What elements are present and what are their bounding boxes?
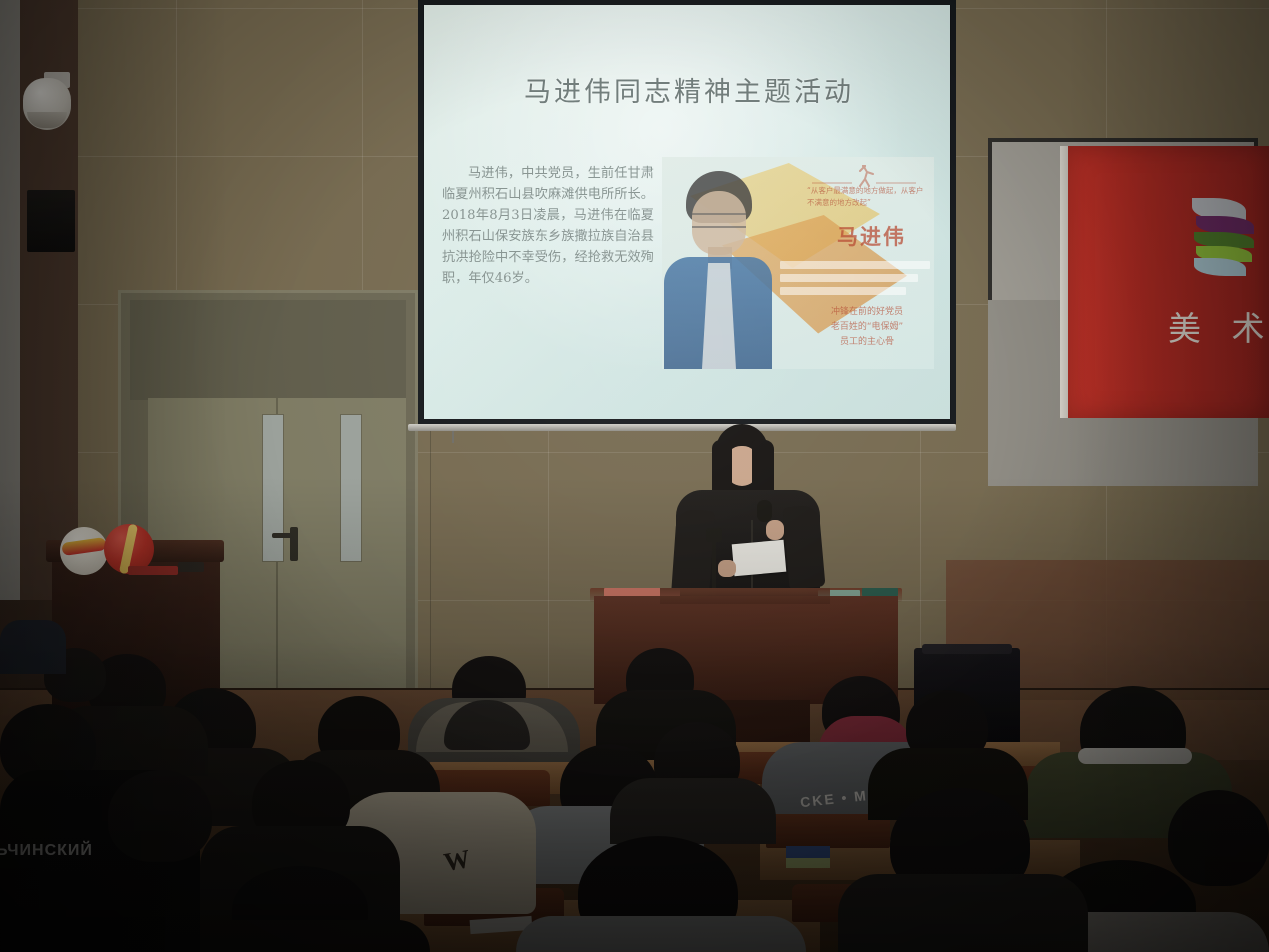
cyrillic-jacket-text: ЬЧИНСКИЙ [0, 842, 93, 860]
door-handle-lever[interactable] [272, 533, 294, 538]
slide-body-text: 马进伟，中共党员，生前任甘肃临夏州积石山县吹麻滩供电所所长。2018年8月3日凌… [442, 163, 654, 289]
door-glass-right [340, 414, 362, 562]
figure-runner-silhouette [812, 165, 916, 187]
wall-speaker-icon [27, 190, 75, 252]
leaf-fan-logo-icon [1192, 196, 1269, 278]
audience-front-3-shoulders [170, 920, 430, 952]
speech-paper [732, 540, 787, 576]
banner-text: 美 术 [1168, 302, 1269, 350]
audience-front-1-shoulders [516, 916, 806, 952]
portrait-glasses [692, 213, 746, 228]
figure-subtitle-line-3: 员工的主心骨 [808, 335, 926, 350]
audience-shoulders-k [610, 778, 776, 844]
door-alcove-header [130, 300, 406, 400]
audience-fur-collar-white [1078, 748, 1192, 764]
red-banner [1068, 146, 1269, 418]
floor-speaker-top [922, 644, 1012, 654]
podium-folder-dark-green [862, 588, 898, 596]
side-podium-item-dark [178, 562, 204, 572]
presenter-hand-left [718, 560, 736, 577]
slide-figure: “从客户最满意的地方做起，从客户不满意的地方改起” 马进伟 冲锋在前的好党员 老… [662, 157, 934, 369]
podium-front-panel [660, 588, 830, 604]
microphone-icon [757, 500, 772, 522]
figure-subtitle-line-1: 冲锋在前的好党员 [808, 305, 926, 320]
audience-front-2-shoulders [838, 874, 1088, 952]
desk-booklet-blue [786, 846, 830, 858]
figure-portrait [664, 171, 772, 367]
beige-jacket-letter: W [442, 844, 473, 878]
mic-stand-pole [712, 534, 716, 596]
desk-booklet-green [786, 858, 830, 868]
dome-camera-icon [23, 78, 71, 130]
screen-weight-bar [408, 424, 956, 431]
figure-subtitle: 冲锋在前的好党员 老百姓的“电保姆” 员工的主心骨 [808, 305, 926, 350]
presenter-arm-left [671, 509, 715, 597]
audience-blue-cap [0, 620, 66, 674]
wall-column-grey [0, 0, 20, 700]
slide-title: 马进伟同志精神主题活动 [479, 70, 899, 109]
lecture-hall-photo: 马进伟同志精神主题活动 马进伟，中共党员，生前任甘肃临夏州积石山县吹麻滩供电所所… [0, 0, 1269, 952]
projection-screen: 马进伟同志精神主题活动 马进伟，中共党员，生前任甘肃临夏州积石山县吹麻滩供电所所… [424, 5, 950, 419]
figure-subtitle-line-2: 老百姓的“电保姆” [808, 320, 926, 335]
figure-name: 马进伟 [837, 221, 906, 251]
audience-head-h [1168, 790, 1269, 886]
figure-white-bars [780, 261, 930, 300]
side-podium-item-red [128, 566, 178, 575]
wall-seam [430, 430, 431, 690]
screen-pull-cord [452, 431, 454, 443]
audience-head-front-6 [108, 770, 212, 862]
figure-quote: “从客户最满意的地方做起，从客户不满意的地方改起” [807, 185, 929, 209]
presenter-arm-right [782, 505, 825, 590]
presenter-hand-right [766, 520, 784, 540]
door-glass-left [262, 414, 284, 562]
